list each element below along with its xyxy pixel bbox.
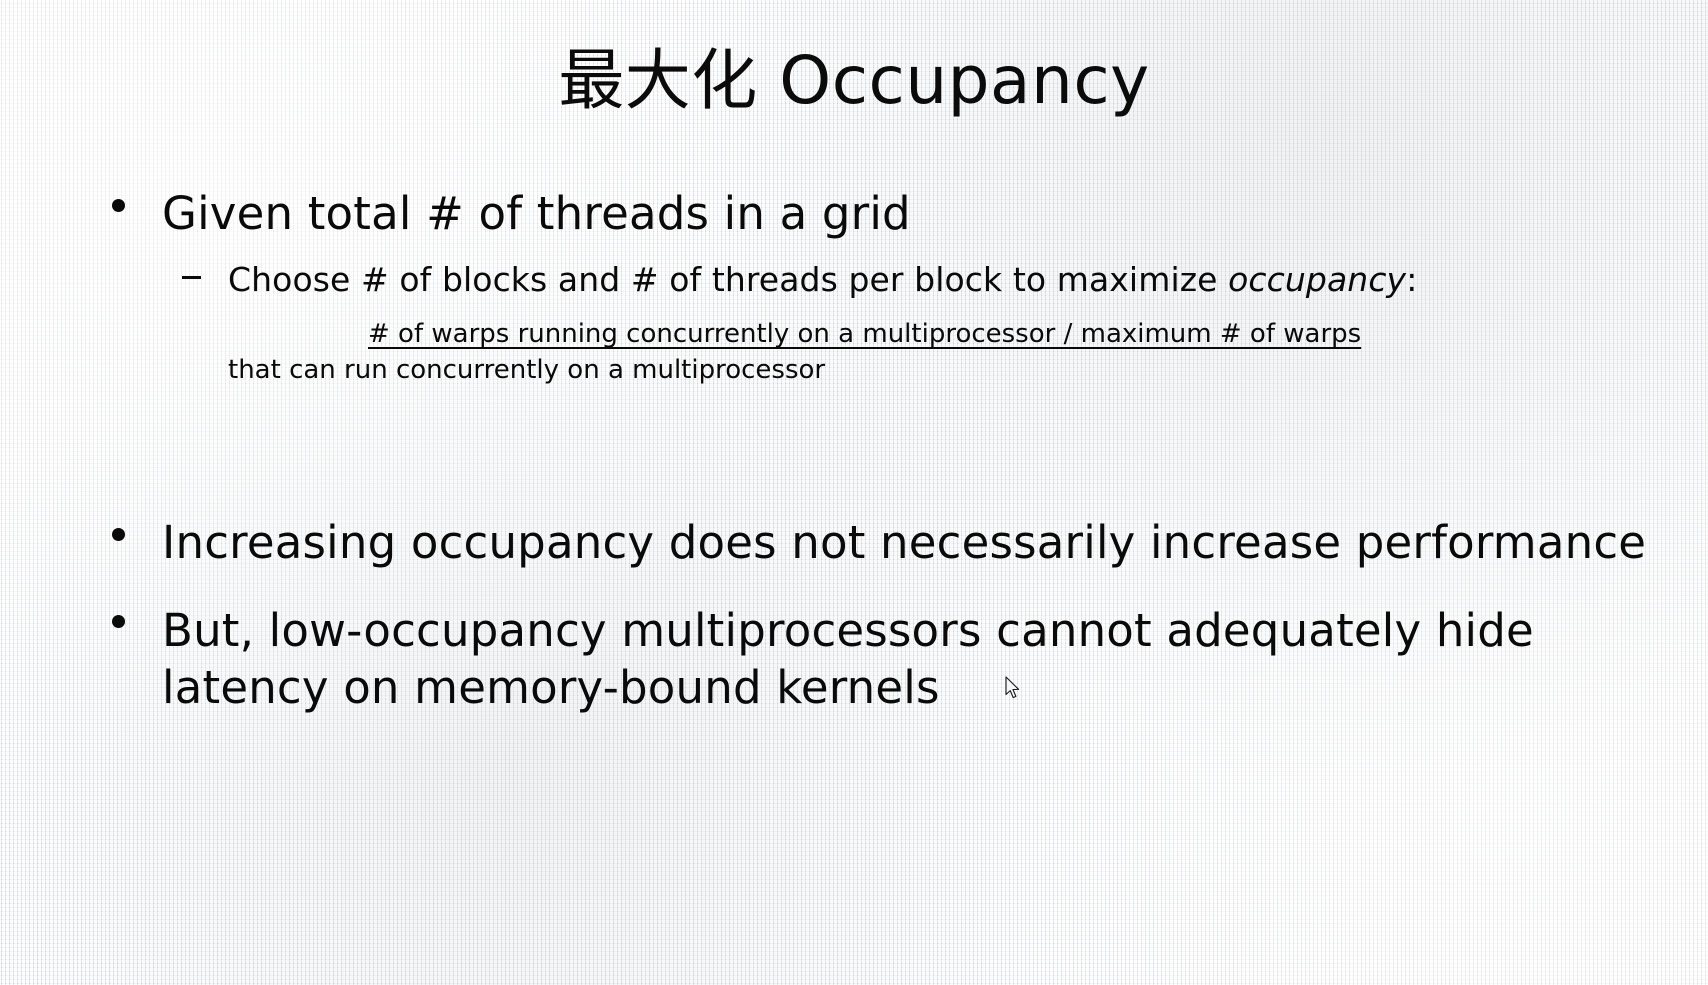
- presentation-slide: 最大化 Occupancy Given total # of threads i…: [0, 0, 1708, 985]
- bullet-item-increasing-occupancy: Increasing occupancy does not necessaril…: [0, 514, 1708, 572]
- bullet-text: Given total # of threads in a grid: [162, 187, 911, 240]
- slide-content: 最大化 Occupancy Given total # of threads i…: [0, 0, 1708, 985]
- bullet-item-given-total-threads: Given total # of threads in a grid: [0, 185, 1708, 243]
- bullet-dot-icon: [112, 199, 125, 212]
- spacer: [0, 572, 1708, 602]
- bullet-text: Increasing occupancy does not necessaril…: [162, 516, 1646, 569]
- spacer: [0, 243, 1708, 259]
- bullet-dot-icon: [112, 615, 125, 628]
- spacer: [0, 301, 1708, 317]
- sub-bullet-italic-term: occupancy: [1228, 260, 1406, 299]
- bullet-dot-icon: [112, 528, 125, 541]
- spacer: [0, 388, 1708, 514]
- sub-bullet-text-after-italic: :: [1406, 260, 1417, 299]
- fraction-numerator: # of warps running concurrently on a mul…: [368, 317, 1498, 352]
- dash-marker-icon: [182, 276, 201, 279]
- slide-body: Given total # of threads in a grid Choos…: [0, 185, 1708, 717]
- bullet-item-low-occupancy-latency: But, low-occupancy multiprocessors canno…: [0, 602, 1708, 717]
- slide-title: 最大化 Occupancy: [0, 44, 1708, 118]
- sub-bullet-item-choose-blocks: Choose # of blocks and # of threads per …: [0, 259, 1708, 302]
- bullet-text: But, low-occupancy multiprocessors canno…: [162, 604, 1534, 715]
- fraction-denominator: that can run concurrently on a multiproc…: [228, 353, 1498, 388]
- occupancy-definition-fraction: # of warps running concurrently on a mul…: [0, 317, 1708, 388]
- sub-bullet-text-before-italic: Choose # of blocks and # of threads per …: [228, 260, 1228, 299]
